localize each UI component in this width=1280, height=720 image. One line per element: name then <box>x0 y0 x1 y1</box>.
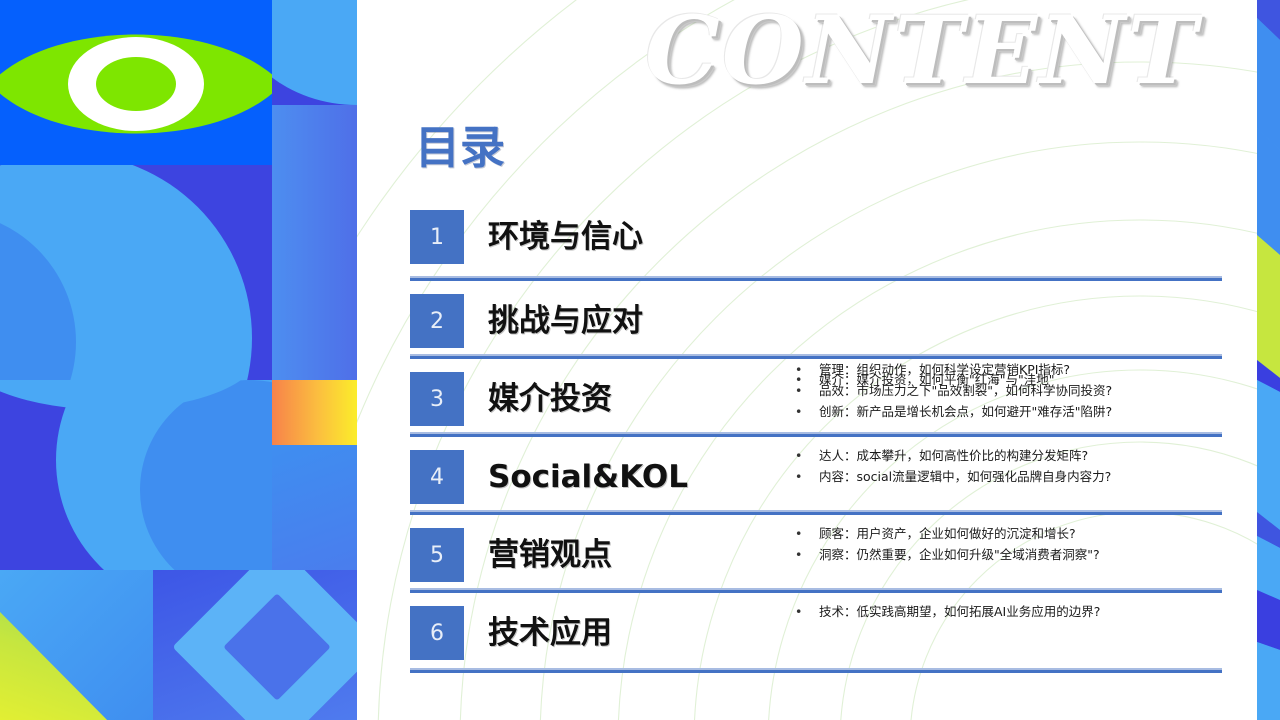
bullet-dot: • <box>795 445 819 466</box>
toc-bullet-list: • 达人：成本攀升，如何高性价比的构建分发矩阵? • 内容：social流量逻辑… <box>795 445 1225 487</box>
toc-row[interactable]: 4 Social&KOL • 达人：成本攀升，如何高性价比的构建分发矩阵? • … <box>410 437 1222 515</box>
list-item: • 达人：成本攀升，如何高性价比的构建分发矩阵? <box>795 445 1225 466</box>
decor-diamond-block <box>153 570 357 720</box>
list-item: • 内容：social流量逻辑中，如何强化品牌自身内容力? <box>795 466 1225 487</box>
decor-arc-block <box>0 380 272 570</box>
slide-root: CONTENT 目录 1 环境与信心 2 挑战与应对 • <box>0 0 1280 720</box>
decor-quarter-circle <box>272 0 357 105</box>
toc-item-label: 挑战与应对 <box>488 294 643 348</box>
list-item: • 顾客：用户资产，企业如何做好的沉淀和增长? <box>795 523 1225 544</box>
toc-bullet-list: • 顾客：用户资产，企业如何做好的沉淀和增长? • 洞察：仍然重要，企业如何升级… <box>795 523 1225 565</box>
page-title: 目录 <box>415 120 505 176</box>
toc-item-label: 技术应用 <box>488 606 612 660</box>
toc-bullet-list: • 媒介：媒介投资，如何平衡"红海"与"洼地" <box>795 369 1225 390</box>
table-of-contents: 1 环境与信心 2 挑战与应对 • 管理：组织动作，如何科学设定营销KPI指标? <box>410 210 1222 673</box>
watermark-title: CONTENT <box>645 0 1265 106</box>
toc-item-label: 环境与信心 <box>488 210 643 264</box>
toc-number-badge: 3 <box>410 372 464 426</box>
bullet-dot: • <box>795 523 819 544</box>
bullet-dot: • <box>795 466 819 487</box>
toc-number-badge: 6 <box>410 606 464 660</box>
decor-green-triangle <box>0 570 153 720</box>
toc-number-badge: 2 <box>410 294 464 348</box>
bullet-text: 内容：social流量逻辑中，如何强化品牌自身内容力? <box>819 466 1225 487</box>
toc-number-badge: 5 <box>410 528 464 582</box>
toc-item-label: 媒介投资 <box>488 372 612 426</box>
toc-row[interactable]: 5 营销观点 • 顾客：用户资产，企业如何做好的沉淀和增长? • 洞察：仍然重要… <box>410 515 1222 593</box>
right-decor-strip <box>1257 0 1280 720</box>
bullet-dot: • <box>795 601 819 622</box>
toc-row[interactable]: 6 技术应用 • 技术：低实践高期望，如何拓展AI业务应用的边界? <box>410 593 1222 673</box>
toc-row[interactable]: 3 媒介投资 • 媒介：媒介投资，如何平衡"红海"与"洼地" <box>410 359 1222 437</box>
toc-item-label: Social&KOL <box>488 450 688 504</box>
decor-eye-block <box>0 0 272 165</box>
bullet-text: 媒介：媒介投资，如何平衡"红海"与"洼地" <box>819 369 1225 390</box>
decor-ring-block <box>0 165 272 380</box>
toc-row[interactable]: 2 挑战与应对 • 管理：组织动作，如何科学设定营销KPI指标? • 品效：市场… <box>410 281 1222 359</box>
list-item: • 洞察：仍然重要，企业如何升级"全域消费者洞察"? <box>795 544 1225 565</box>
eye-icon <box>0 14 272 154</box>
toc-number-badge: 1 <box>410 210 464 264</box>
content-area: CONTENT 目录 1 环境与信心 2 挑战与应对 • <box>357 0 1257 720</box>
toc-divider <box>410 668 1222 673</box>
toc-number-badge: 4 <box>410 450 464 504</box>
toc-item-label: 营销观点 <box>488 528 612 582</box>
decor-orange-gradient <box>272 380 357 445</box>
bullet-dot: • <box>795 369 819 390</box>
list-item: • 技术：低实践高期望，如何拓展AI业务应用的边界? <box>795 601 1225 622</box>
toc-row[interactable]: 1 环境与信心 <box>410 210 1222 281</box>
bullet-text: 达人：成本攀升，如何高性价比的构建分发矩阵? <box>819 445 1225 466</box>
bullet-dot: • <box>795 544 819 565</box>
list-item: • 媒介：媒介投资，如何平衡"红海"与"洼地" <box>795 369 1225 390</box>
bullet-text: 洞察：仍然重要，企业如何升级"全域消费者洞察"? <box>819 544 1225 565</box>
left-decor-panel <box>0 0 357 720</box>
decor-gradient-bar <box>272 105 357 380</box>
decor-blue-chevron <box>272 445 357 570</box>
toc-bullet-list: • 技术：低实践高期望，如何拓展AI业务应用的边界? <box>795 601 1225 622</box>
bullet-text: 顾客：用户资产，企业如何做好的沉淀和增长? <box>819 523 1225 544</box>
bullet-text: 技术：低实践高期望，如何拓展AI业务应用的边界? <box>819 601 1225 622</box>
